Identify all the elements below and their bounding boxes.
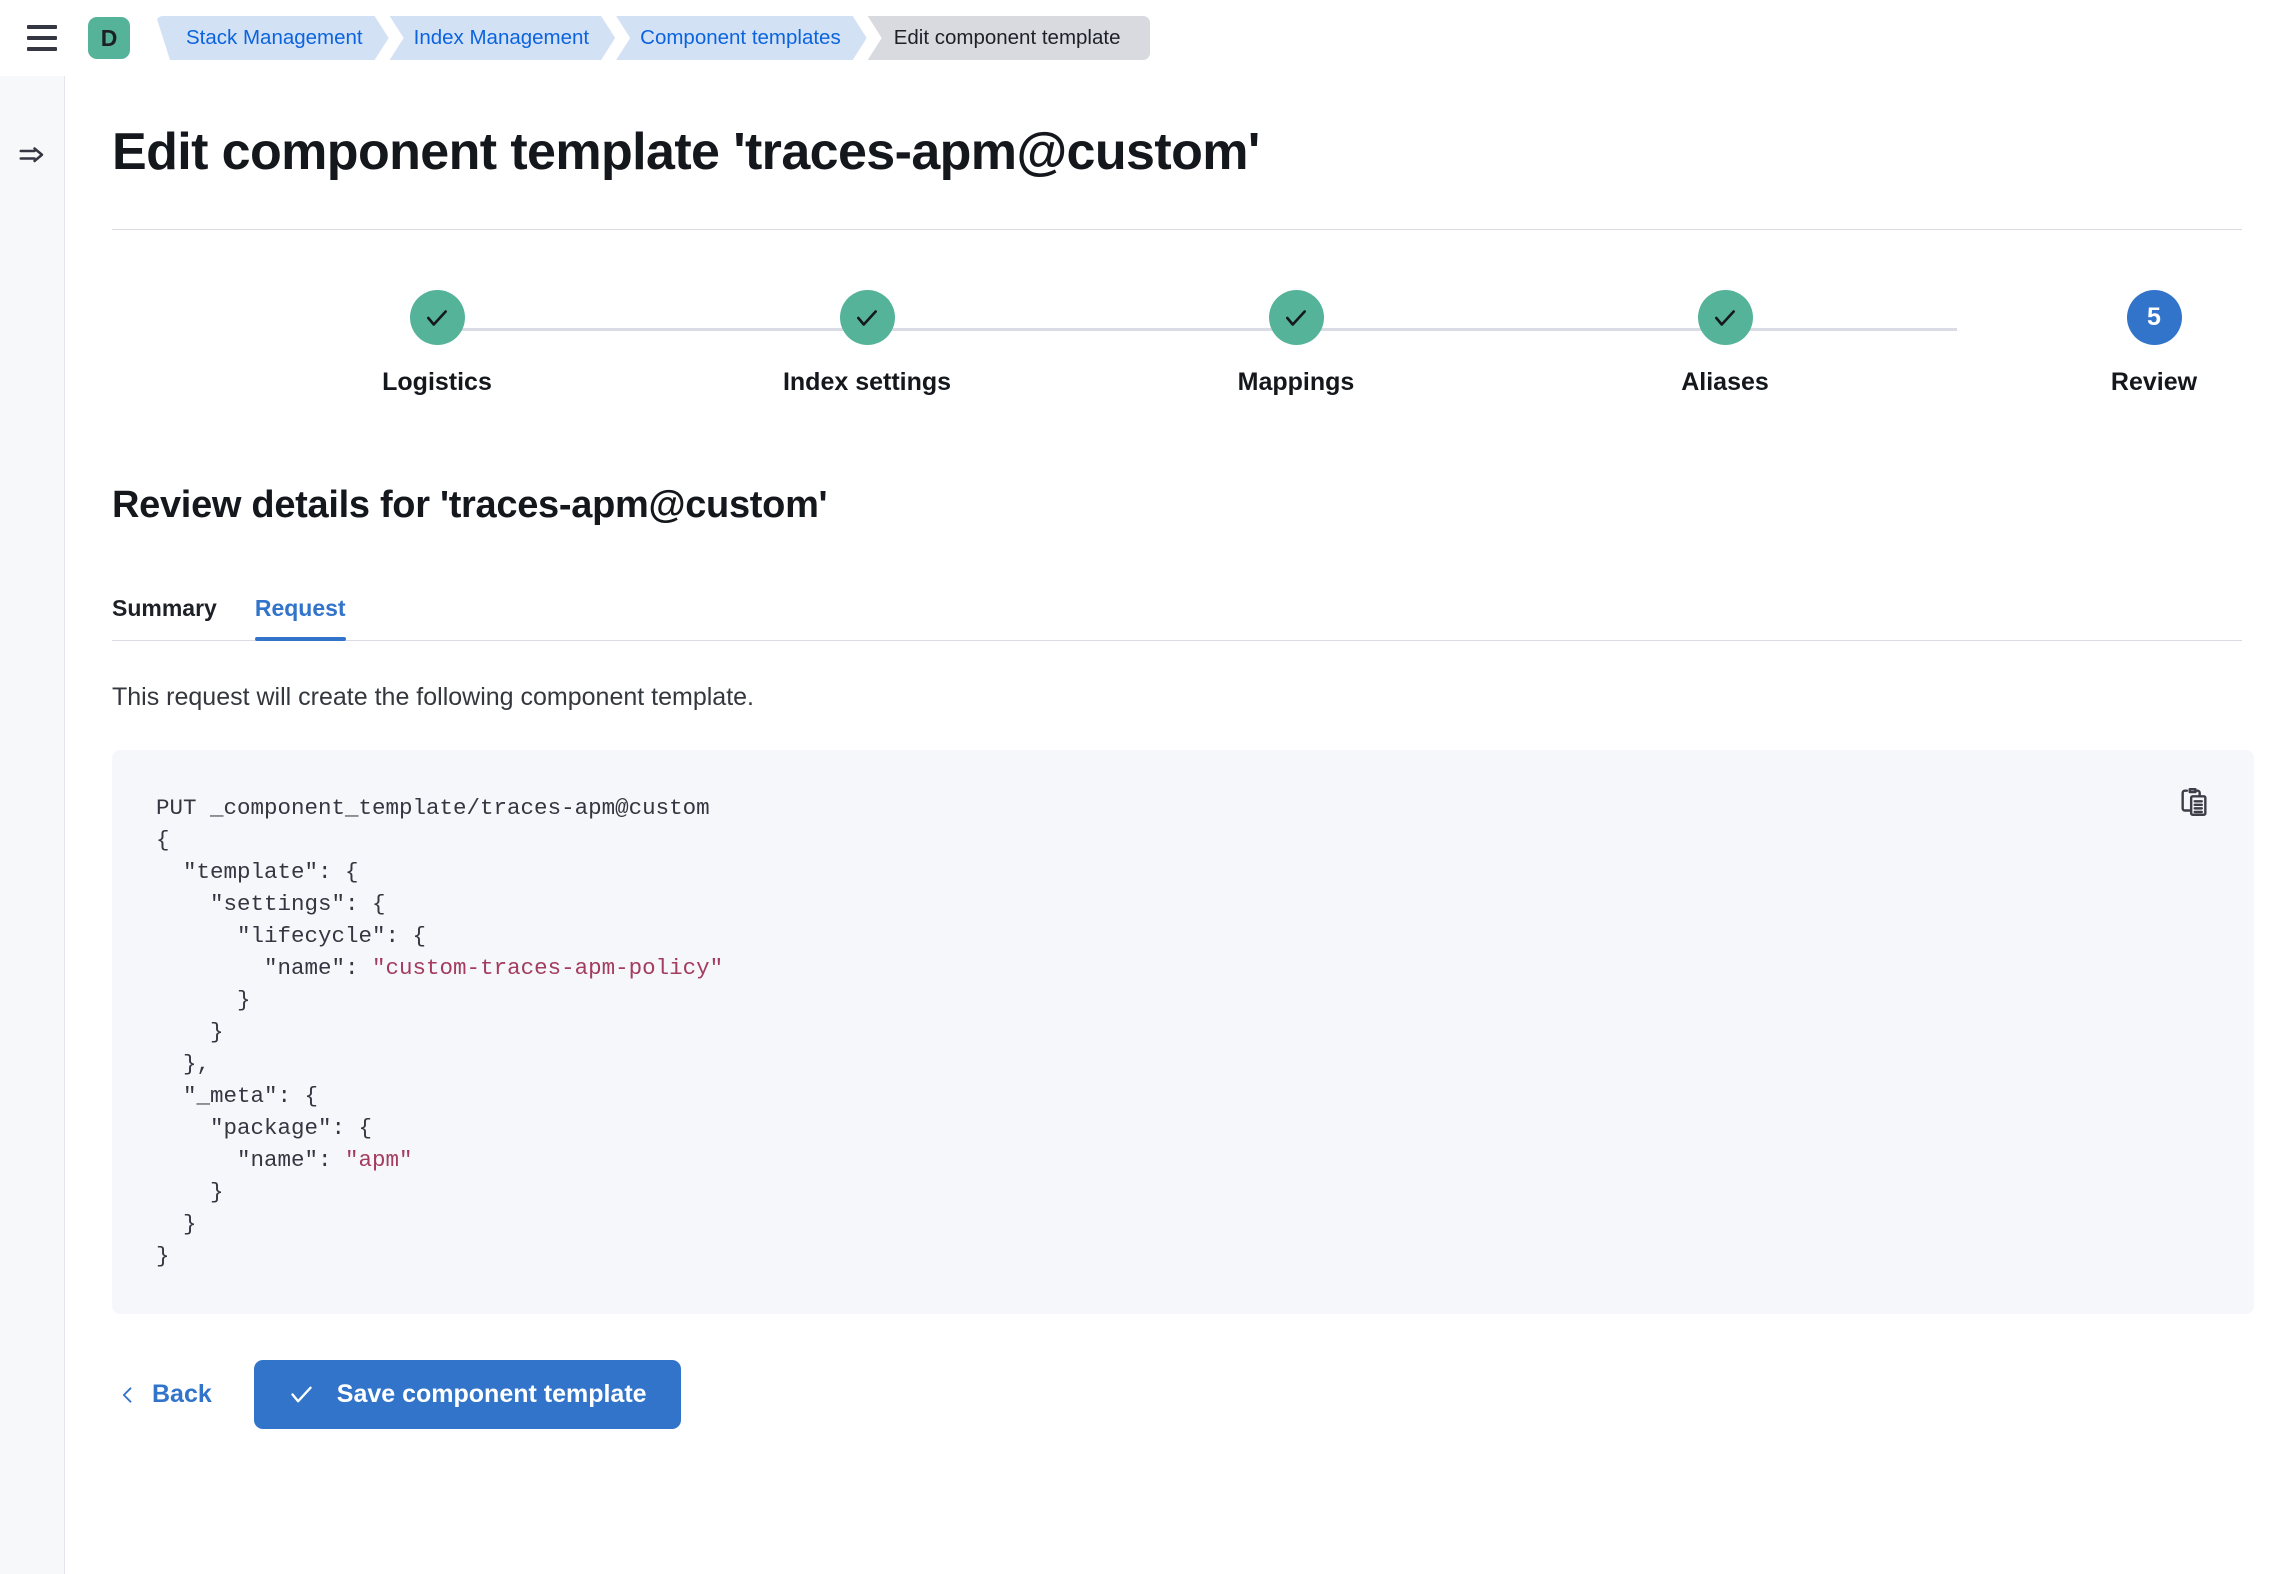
wizard-step-mappings[interactable]: Mappings: [1136, 290, 1456, 397]
code-line: }: [156, 1211, 197, 1237]
hamburger-bar: [27, 25, 57, 29]
code-line: },: [156, 1051, 210, 1077]
wizard-step-label: Aliases: [1681, 368, 1769, 397]
code-line: {: [156, 827, 170, 853]
copy-clipboard-glyph: [2177, 785, 2211, 819]
expand-sidebar-arrow-glyph: [17, 141, 47, 171]
code-line: "settings": {: [156, 891, 386, 917]
request-description: This request will create the following c…: [112, 683, 2242, 712]
save-component-template-button[interactable]: Save component template: [254, 1360, 681, 1429]
wizard-step-indicator: Logistics Index settings Mappings Aliase…: [112, 290, 2242, 440]
code-line: "lifecycle": {: [156, 923, 426, 949]
code-line: }: [156, 1019, 224, 1045]
code-line-string: "apm": [345, 1147, 413, 1173]
step-number-badge: 5: [2127, 290, 2182, 345]
request-code-text: PUT _component_template/traces-apm@custo…: [112, 792, 2254, 1272]
code-line: }: [156, 1179, 224, 1205]
left-sidebar-rail: [0, 76, 65, 1574]
tab-summary[interactable]: Summary: [112, 595, 217, 640]
page-title: Edit component template 'traces-apm@cust…: [112, 124, 2242, 181]
hamburger-bar: [27, 36, 57, 40]
expand-sidebar-arrow-icon[interactable]: [12, 136, 52, 176]
step-complete-check-icon: [1698, 290, 1753, 345]
tab-request[interactable]: Request: [255, 595, 346, 640]
breadcrumb-item-component-templates[interactable]: Component templates: [602, 16, 867, 60]
copy-clipboard-icon[interactable]: [2168, 776, 2220, 828]
wizard-step-aliases[interactable]: Aliases: [1565, 290, 1885, 397]
main-content: Edit component template 'traces-apm@cust…: [66, 76, 2288, 1574]
section-title: Review details for 'traces-apm@custom': [112, 484, 2242, 527]
code-line: "package": {: [156, 1115, 372, 1141]
back-button-label: Back: [152, 1380, 212, 1409]
code-line: }: [156, 987, 251, 1013]
back-button[interactable]: Back: [112, 1372, 218, 1417]
code-line: }: [156, 1243, 170, 1269]
request-code-block: PUT _component_template/traces-apm@custo…: [112, 750, 2254, 1314]
check-icon: [288, 1381, 315, 1408]
title-divider: [112, 229, 2242, 230]
breadcrumb-item-stack-management[interactable]: Stack Management: [156, 16, 389, 60]
code-line: "_meta": {: [156, 1083, 318, 1109]
code-line-key: "name":: [156, 1147, 345, 1173]
code-line-key: "name":: [156, 955, 372, 981]
space-avatar[interactable]: D: [88, 17, 130, 59]
hamburger-bar: [27, 47, 57, 51]
breadcrumb: Stack Management Index Management Compon…: [156, 16, 1153, 60]
global-header: D Stack Management Index Management Comp…: [0, 0, 2288, 76]
review-tabs: Summary Request: [112, 579, 2242, 641]
chevron-left-icon: [118, 1382, 138, 1408]
wizard-step-label: Review: [2111, 368, 2197, 397]
breadcrumb-item-edit-component-template: Edit component template: [854, 16, 1151, 60]
save-button-label: Save component template: [337, 1380, 647, 1409]
wizard-step-review[interactable]: 5 Review: [1994, 290, 2288, 397]
code-line-string: "custom-traces-apm-policy": [372, 955, 723, 981]
wizard-actions: Back Save component template: [112, 1360, 2242, 1429]
hamburger-menu-icon[interactable]: [22, 18, 62, 58]
wizard-step-label: Index settings: [783, 368, 951, 397]
code-line: "template": {: [156, 859, 359, 885]
step-complete-check-icon: [410, 290, 465, 345]
step-complete-check-icon: [1269, 290, 1324, 345]
code-line: PUT _component_template/traces-apm@custo…: [156, 795, 710, 821]
step-complete-check-icon: [840, 290, 895, 345]
breadcrumb-item-index-management[interactable]: Index Management: [376, 16, 616, 60]
wizard-step-label: Mappings: [1238, 368, 1355, 397]
wizard-step-logistics[interactable]: Logistics: [277, 290, 597, 397]
wizard-step-label: Logistics: [382, 368, 492, 397]
wizard-step-index-settings[interactable]: Index settings: [707, 290, 1027, 397]
